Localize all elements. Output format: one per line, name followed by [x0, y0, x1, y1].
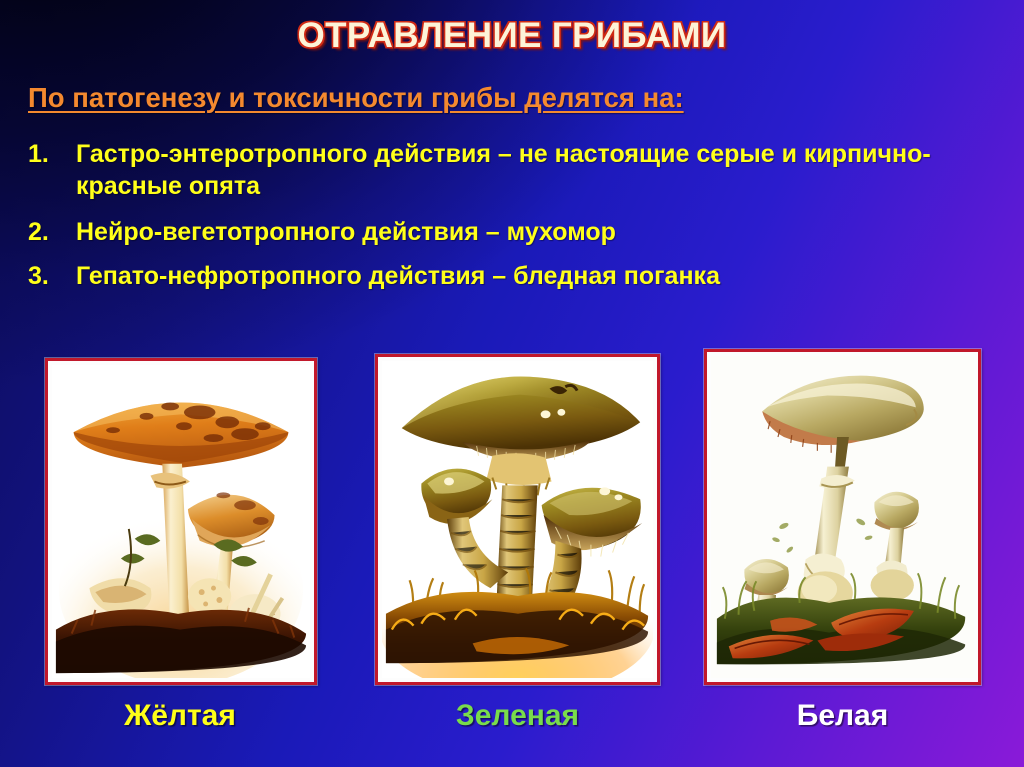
figure-caption-white: Белая — [715, 699, 970, 733]
figure-caption-yellow: Жёлтая — [60, 699, 300, 733]
list-item: 1. Гастро-энтеротропного действия – не н… — [28, 138, 1003, 202]
figure-caption-green: Зеленая — [390, 699, 645, 733]
page-title: ОТРАВЛЕНИЕ ГРИБАМИ — [298, 16, 727, 56]
classification-list: 1. Гастро-энтеротропного действия – не н… — [28, 138, 1003, 302]
list-item-number: 3. — [28, 260, 76, 292]
list-item-number: 1. — [28, 138, 76, 170]
list-item-number: 2. — [28, 216, 76, 248]
figure-frame-green — [375, 354, 660, 685]
figure-frame-yellow — [45, 358, 317, 685]
list-item: 3. Гепато-нефротропного действия – бледн… — [28, 260, 1003, 292]
list-item-label: Гастро-энтеротропного действия – не наст… — [76, 138, 956, 202]
list-item-label: Нейро-вегетотропного действия – мухомор — [76, 216, 616, 248]
slide-subtitle: По патогенезу и токсичности грибы делятс… — [28, 82, 684, 114]
green-mushroom-illustration — [382, 361, 653, 678]
list-item-label: Гепато-нефротропного действия – бледная … — [76, 260, 720, 292]
figure-frame-white — [704, 349, 981, 685]
title-container: ОТРАВЛЕНИЕ ГРИБАМИ — [0, 16, 1024, 56]
yellow-mushroom-illustration — [52, 365, 310, 678]
list-item: 2. Нейро-вегетотропного действия – мухом… — [28, 216, 1003, 248]
slide-canvas: ОТРАВЛЕНИЕ ГРИБАМИ По патогенезу и токси… — [0, 0, 1024, 767]
white-mushroom-illustration — [711, 356, 974, 678]
